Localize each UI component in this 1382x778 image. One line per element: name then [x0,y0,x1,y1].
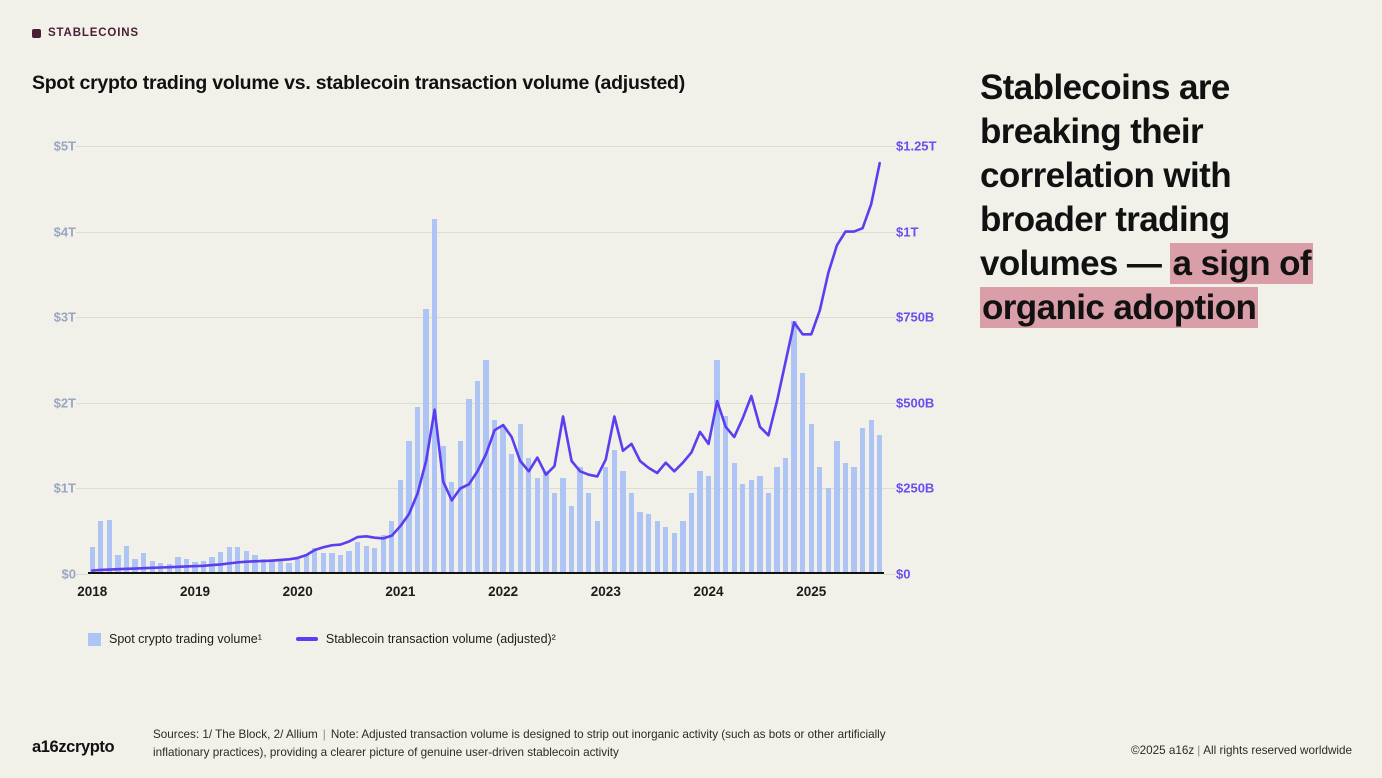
legend-item-line: Stablecoin transaction volume (adjusted)… [296,632,556,646]
y-axis-left-tick: $3T [54,310,76,325]
legend-label-line: Stablecoin transaction volume (adjusted)… [326,632,556,646]
x-axis-tick: 2021 [385,584,415,599]
chart-container: $0$1T$2T$3T$4T$5T $0$250B$500B$750B$1T$1… [32,128,940,590]
category-tag: STABLECOINS [32,27,139,39]
x-axis-tick: 2018 [77,584,107,599]
legend-item-bars: Spot crypto trading volume¹ [88,632,262,646]
footer-copyright: ©2025 a16z|All rights reserved worldwide [1131,744,1352,757]
y-axis-left-tick: $1T [54,481,76,496]
x-axis-tick: 2020 [283,584,313,599]
y-axis-right-tick: $1T [896,224,918,239]
y-axis-right-tick: $0 [896,567,910,582]
copyright-year: ©2025 a16z [1131,744,1194,757]
y-axis-left-tick-mark [76,403,88,404]
y-axis-left-tick-mark [76,317,88,318]
y-axis-left-tick: $2T [54,395,76,410]
chart-legend: Spot crypto trading volume¹ Stablecoin t… [88,632,556,646]
x-axis-tick: 2019 [180,584,210,599]
y-axis-right-tick-mark [884,574,896,575]
y-axis-right-tick-mark [884,317,896,318]
y-axis-right-tick: $250B [896,481,934,496]
headline: Stablecoins are breaking their correlati… [980,66,1340,330]
footer-sources: Sources: 1/ The Block, 2/ Allium [153,728,318,741]
line-series [88,146,884,574]
x-axis-tick: 2024 [694,584,724,599]
y-axis-left-tick-mark [76,574,88,575]
page-title: Spot crypto trading volume vs. stablecoi… [32,72,685,95]
y-axis-left-tick: $4T [54,224,76,239]
y-axis-right-tick-mark [884,488,896,489]
y-axis-right-tick: $1.25T [896,139,936,154]
y-axis-right-tick: $750B [896,310,934,325]
a16zcrypto-logo: a16zcrypto [32,738,114,757]
y-axis-right-tick: $500B [896,395,934,410]
y-axis-left-tick-mark [76,146,88,147]
plot-area: $0$1T$2T$3T$4T$5T $0$250B$500B$750B$1T$1… [88,146,884,574]
stablecoin-line [92,163,879,570]
y-axis-left-tick: $5T [54,139,76,154]
category-tag-label: STABLECOINS [48,27,139,39]
footer-separator: | [318,728,331,741]
line-series-svg [88,146,884,574]
y-axis-right-tick-mark [884,232,896,233]
y-axis-right-tick-mark [884,146,896,147]
legend-line-swatch-icon [296,637,318,641]
x-axis-tick: 2022 [488,584,518,599]
y-axis-left-tick-mark [76,232,88,233]
x-axis-tick: 2025 [796,584,826,599]
x-axis-tick: 2023 [591,584,621,599]
x-axis-baseline [88,572,884,575]
square-swatch-icon [32,29,41,38]
copyright-separator: | [1194,744,1203,757]
y-axis-left-tick: $0 [62,567,76,582]
y-axis-left-tick-mark [76,488,88,489]
legend-bar-swatch-icon [88,633,101,646]
legend-label-bars: Spot crypto trading volume¹ [109,632,262,646]
y-axis-right-tick-mark [884,403,896,404]
copyright-rights: All rights reserved worldwide [1203,744,1352,757]
footer-note: Sources: 1/ The Block, 2/ Allium|Note: A… [153,726,943,761]
